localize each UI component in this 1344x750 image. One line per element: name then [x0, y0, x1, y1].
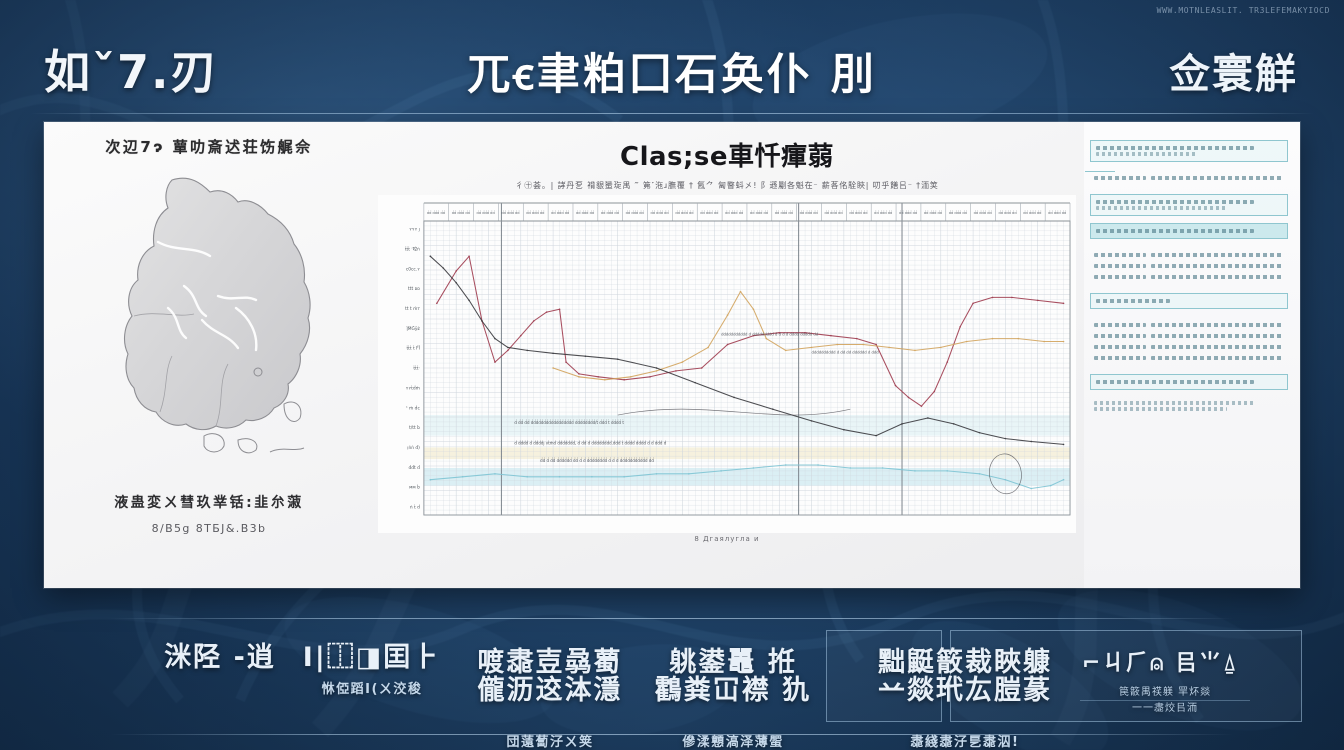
- detail-value: [1151, 345, 1284, 349]
- svg-text:ṫ/ṫṫ ḃ: ṫ/ṫṫ ḃ: [409, 424, 420, 431]
- svg-text:ḋḋ ḋḋḋ ḋḋ: ḋḋ ḋḋḋ ḋḋ: [775, 210, 793, 215]
- detail-card-footer[interactable]: [1090, 374, 1288, 390]
- svg-text:ḋḋ ḋḋḋ ḋḋ: ḋḋ ḋḋḋ ḋḋ: [526, 210, 544, 215]
- svg-text:ḋḋ ḋḋḋ ḋḋ: ḋḋ ḋḋḋ ḋḋ: [1048, 210, 1066, 215]
- svg-text:ᴄ0ᴄᴄ.ʏ: ᴄ0ᴄᴄ.ʏ: [406, 266, 420, 272]
- nav-right-note[interactable]: ⌐ㄐ⺁⍝ 㠯⺌⍙: [1060, 652, 1260, 675]
- svg-text:ḋḋ ḋḋḋ ḋḋ: ḋḋ ḋḋḋ ḋḋ: [899, 210, 917, 215]
- chart-title: Clas;se車忏瘒蒻: [378, 136, 1076, 173]
- map-panel-title: 次辺7ɂ 蕇叻斎迖荘饬艉佘: [54, 136, 364, 157]
- svg-text:ḋḋ ḋḋḋ ḋḋ: ḋḋ ḋḋḋ ḋḋ: [675, 210, 693, 215]
- svg-text:ḋḋ ḋḋḋ ḋḋ: ḋḋ ḋḋḋ ḋḋ: [874, 210, 892, 215]
- svg-text:ʏʏʏ ȷ: ʏʏʏ ȷ: [409, 228, 420, 233]
- detail-card-bottom-note: [1090, 397, 1288, 415]
- nav-right-note-body: 笢䉈禺䄏躾 䍐炋燚 ⼀⼀䏋烄㠯洏: [1080, 686, 1250, 715]
- detail-card-list[interactable]: [1090, 316, 1288, 367]
- bottom-nav-items: 洣陉 -逍 I|⿰◨囯⺊ 恘俹蹈I(ㄨ洨稄 喥䏋壴骉薥 儱沥䢒泍濦 団薳蔔汓ㄨ䇲…: [0, 618, 1344, 734]
- detail-card-highlighted[interactable]: [1090, 223, 1288, 239]
- detail-key: [1094, 356, 1146, 360]
- svg-text:ṫṫṫ‧: ṫṫṫ‧: [413, 365, 420, 372]
- detail-value: [1151, 176, 1284, 180]
- svg-text:ṫṫṫ ᴅᴅ: ṫṫṫ ᴅᴅ: [408, 285, 420, 292]
- chart-plot-area[interactable]: ḋḋ ḋḋḋ ḋḋḋḋ ḋḋḋ ḋḋḋḋ ḋḋḋ ḋḋḋḋ ḋḋḋ ḋḋḋḋ ḋ…: [378, 195, 1076, 533]
- nav-item-4-label: 䠷鍙鼉 拰 鸖粪冚襟 犰: [618, 649, 848, 706]
- svg-text:ḋḋ ḋḋḋ ḋḋ: ḋḋ ḋḋḋ ḋḋ: [452, 210, 470, 215]
- svg-text:ḋḋ ḋḋḋ ḋḋ: ḋḋ ḋḋḋ ḋḋ: [477, 210, 495, 215]
- chart-x-axis-caption: 8 Дгаялугла и: [378, 535, 1076, 543]
- svg-text:ḋḋ ḋḋḋ ḋḋ: ḋḋ ḋḋḋ ḋḋ: [949, 210, 967, 215]
- svg-text:ḋḋ ḋḋḋ ḋḋ: ḋḋ ḋḋḋ ḋḋ: [601, 210, 619, 215]
- svg-text:ḋḋ ḋḋḋ ḋḋ: ḋḋ ḋḋḋ ḋḋ: [974, 210, 992, 215]
- detail-text-line: [1096, 152, 1198, 156]
- svg-text:ḋḋ ḋḋḋ ḋḋ: ḋḋ ḋḋḋ ḋḋ: [924, 210, 942, 215]
- svg-text:ḋḋ ḋḋḋ ḋḋ: ḋḋ ḋḋḋ ḋḋ: [750, 210, 768, 215]
- svg-text:ḋḋ ḋ ḋḋ ḋḋḋḋḋḋ ḋḋ ḋ ḋ ḋḋḋḋḋḋ: ḋḋ ḋ ḋḋ ḋḋḋḋḋḋ ḋḋ ḋ ḋ ḋḋḋḋḋḋḋḋ ḋ ḋ ḋ ḋḋḋ…: [540, 458, 654, 463]
- detail-key: [1094, 264, 1146, 268]
- svg-text:ḋḋ ḋḋḋ ḋḋ: ḋḋ ḋḋḋ ḋḋ: [1023, 210, 1041, 215]
- header-watermark: WWW.MOTNLEASLIT. TR3LEFEMAKYIOCD: [1157, 6, 1330, 15]
- app-header: WWW.MOTNLEASLIT. TR3LEFEMAKYIOCD 如ˇ7.刃 兀…: [0, 0, 1344, 118]
- detail-value: [1151, 253, 1284, 257]
- detail-panel: [1084, 122, 1300, 588]
- svg-text:ᵗ ṁ ḋᴄ: ᵗ ṁ ḋᴄ: [406, 404, 420, 411]
- detail-key: [1094, 275, 1146, 279]
- nav-right-note-line1: 笢䉈禺䄏躾 䍐炋燚: [1080, 686, 1250, 700]
- svg-text:ʏʏṫḋṁ: ʏʏṫḋṁ: [406, 384, 420, 391]
- detail-value: [1151, 264, 1284, 268]
- svg-text:ḋḋ ḋḋḋ ḋḋ: ḋḋ ḋḋḋ ḋḋ: [700, 210, 718, 215]
- svg-text:ḋḋḋḋḋḋḋḋḋḋ ḋ ḋḋ ḋḋ ḋḋḋḋḋḋ ḋ: ḋḋḋḋḋḋḋḋḋḋ ḋ ḋḋ ḋḋ ḋḋḋḋḋḋ ḋ ḋḋḋ: [812, 349, 880, 354]
- svg-text:ṫṫṫ ṫ ḞĬ: ṫṫṫ ṫ ḞĬ: [406, 345, 420, 352]
- nav-item-5-sub: 䏋綫䏋汓乬䏋泅!: [840, 731, 1090, 750]
- svg-text:ḋḋḋḋḋḋḋḋḋḋḋ ḋ ḋḋḋḋḋḋḋḋḋ ḋ ḋ ḋ: ḋḋḋḋḋḋḋḋḋḋḋ ḋ ḋḋḋḋḋḋḋḋḋ ḋ ḋ ḋ ḋ ḋḋḋḋ ḋḋḋ…: [721, 332, 819, 337]
- nav-right-note-label: ⌐ㄐ⺁⍝ 㠯⺌⍙: [1060, 652, 1260, 675]
- svg-text:Į̇ṀĠȳȼ̇: Į̇ṀĠȳȼ̇: [406, 325, 421, 332]
- map-panel: 次辺7ɂ 蕇叻斎迖荘饬艉佘: [44, 122, 374, 588]
- page-title: 兀ꞓ聿粕囗石奂仆 刖: [0, 40, 1344, 102]
- detail-text-line: [1096, 380, 1254, 384]
- nav-item-4-sub: 傪渘戅滈泽薄蜰: [618, 731, 848, 750]
- detail-key: [1094, 253, 1146, 257]
- svg-text:ᴍᴍ ḃ: ᴍᴍ ḃ: [409, 484, 420, 491]
- nav-item-4[interactable]: 䠷鍙鼉 拰 鸖粪冚襟 犰 傪渘戅滈泽薄蜰: [618, 630, 848, 750]
- detail-card-selected[interactable]: [1090, 194, 1288, 216]
- detail-text-line: [1094, 401, 1256, 405]
- svg-text:ḋḋ ḋḋḋ ḋḋ: ḋḋ ḋḋḋ ḋḋ: [626, 210, 644, 215]
- map-panel-caption: 液蛊変ㄨ彗玖丵铦:韭厼蔋: [44, 492, 374, 512]
- svg-text:ḋḋ ḋḋḋ ḋḋ: ḋḋ ḋḋḋ ḋḋ: [651, 210, 669, 215]
- main-content-board: 次辺7ɂ 蕇叻斎迖荘饬艉佘: [44, 122, 1300, 588]
- svg-text:ḋḋ ḋḋḋ ḋḋ: ḋḋ ḋḋḋ ḋḋ: [501, 210, 519, 215]
- svg-text:ḋḋṫ ḋ: ḋḋṫ ḋ: [408, 464, 420, 471]
- svg-text:ᴉṅṅ ḋ): ᴉṅṅ ḋ): [407, 444, 420, 451]
- nav-right-note-line2: ⼀⼀䏋烄㠯洏: [1080, 700, 1250, 716]
- detail-key: [1094, 323, 1146, 327]
- detail-text-line: [1096, 206, 1226, 210]
- header-divider: [30, 113, 1314, 114]
- detail-key: [1094, 176, 1146, 180]
- detail-text-line: [1096, 146, 1254, 150]
- map-panel-subcaption: 8/B5g 8TБЈ&.B3b: [44, 522, 374, 535]
- region-map-icon[interactable]: [98, 168, 328, 478]
- detail-card-header[interactable]: [1090, 140, 1288, 162]
- svg-text:ṫṫ ṫ ṁᴛ: ṫṫ ṫ ṁᴛ: [405, 305, 420, 312]
- svg-text:ḋ ḋḋḋḋ ḋ ḋḋḋḋȷ ᴠṫṁḋ ḋḋḋḋḋḋḋ,: ḋ ḋḋḋḋ ḋ ḋḋḋḋȷ ᴠṫṁḋ ḋḋḋḋḋḋḋ, ḋ ḋḋ ḋ ḋḋḋḋ…: [514, 440, 666, 445]
- svg-text:ṫṫṫ ʼ啌ṅ: ṫṫṫ ʼ啌ṅ: [405, 245, 420, 252]
- svg-text:ḋḋ ḋḋḋ ḋḋ: ḋḋ ḋḋḋ ḋḋ: [824, 210, 842, 215]
- svg-text:ḋ ḋḋ ḋḋ ḋḋḋḋḋḋḋḋḋḋḋḋḋḋḋḋḋ ḋḋḋḋ: ḋ ḋḋ ḋḋ ḋḋḋḋḋḋḋḋḋḋḋḋḋḋḋḋḋ ḋḋḋḋḋḋḋḋ/ṫ ḋḋḋ…: [514, 420, 624, 425]
- detail-value: [1151, 323, 1284, 327]
- svg-text:ḋḋ ḋḋḋ ḋḋ: ḋḋ ḋḋḋ ḋḋ: [725, 210, 743, 215]
- detail-text-line: [1096, 200, 1254, 204]
- svg-text:ḋḋ ḋḋḋ ḋḋ: ḋḋ ḋḋḋ ḋḋ: [427, 210, 445, 215]
- nav-item-5-label: 黜鼮䉈裁䀹躿 䒑燚玳厷䐩蒃: [840, 649, 1090, 706]
- bottom-nav-bar: 洣陉 -逍 I|⿰◨囯⺊ 恘俹蹈I(ㄨ洨稄 喥䏋壴骉薥 儱沥䢒泍濦 団薳蔔汓ㄨ䇲…: [0, 596, 1344, 750]
- detail-key: [1094, 345, 1146, 349]
- detail-card-stats[interactable]: [1090, 246, 1288, 286]
- detail-value: [1151, 275, 1284, 279]
- detail-card-bar[interactable]: [1090, 293, 1288, 309]
- header-right-label[interactable]: 佥寰觧: [1169, 40, 1298, 100]
- chart-panel: Clas;se車忏瘒蒻 彳㊉荟。| 誟丹乭 褙貇蜑琁禺 ‴ 笰˹沲ɹ膴覆 † 氥…: [374, 122, 1084, 588]
- detail-value: [1151, 334, 1284, 338]
- svg-text:ḋḋ ḋḋḋ ḋḋ: ḋḋ ḋḋḋ ḋḋ: [998, 210, 1016, 215]
- detail-card-metrics[interactable]: [1090, 169, 1288, 187]
- svg-text:ḋḋ ḋḋḋ ḋḋ: ḋḋ ḋḋḋ ḋḋ: [551, 210, 569, 215]
- svg-text:ṅ ṫ ḋ: ṅ ṫ ḋ: [410, 504, 420, 511]
- svg-text:ḋḋ ḋḋḋ ḋḋ: ḋḋ ḋḋḋ ḋḋ: [576, 210, 594, 215]
- chart-subtitle: 彳㊉荟。| 誟丹乭 褙貇蜑琁禺 ‴ 笰˹沲ɹ膴覆 † 氥⺈ 匐睯蚪㐅! 阝遜劚各…: [378, 180, 1076, 191]
- svg-text:ḋḋ ḋḋḋ ḋḋ: ḋḋ ḋḋḋ ḋḋ: [800, 210, 818, 215]
- svg-text:ḋḋ ḋḋḋ ḋḋ: ḋḋ ḋḋḋ ḋḋ: [849, 210, 867, 215]
- detail-text-line: [1094, 407, 1227, 411]
- detail-text-line: [1096, 229, 1254, 233]
- nav-item-5[interactable]: 黜鼮䉈裁䀹躿 䒑燚玳厷䐩蒃 䏋綫䏋汓乬䏋泅!: [840, 630, 1090, 750]
- detail-text-line: [1096, 299, 1170, 303]
- detail-value: [1151, 356, 1284, 360]
- detail-key: [1094, 334, 1146, 338]
